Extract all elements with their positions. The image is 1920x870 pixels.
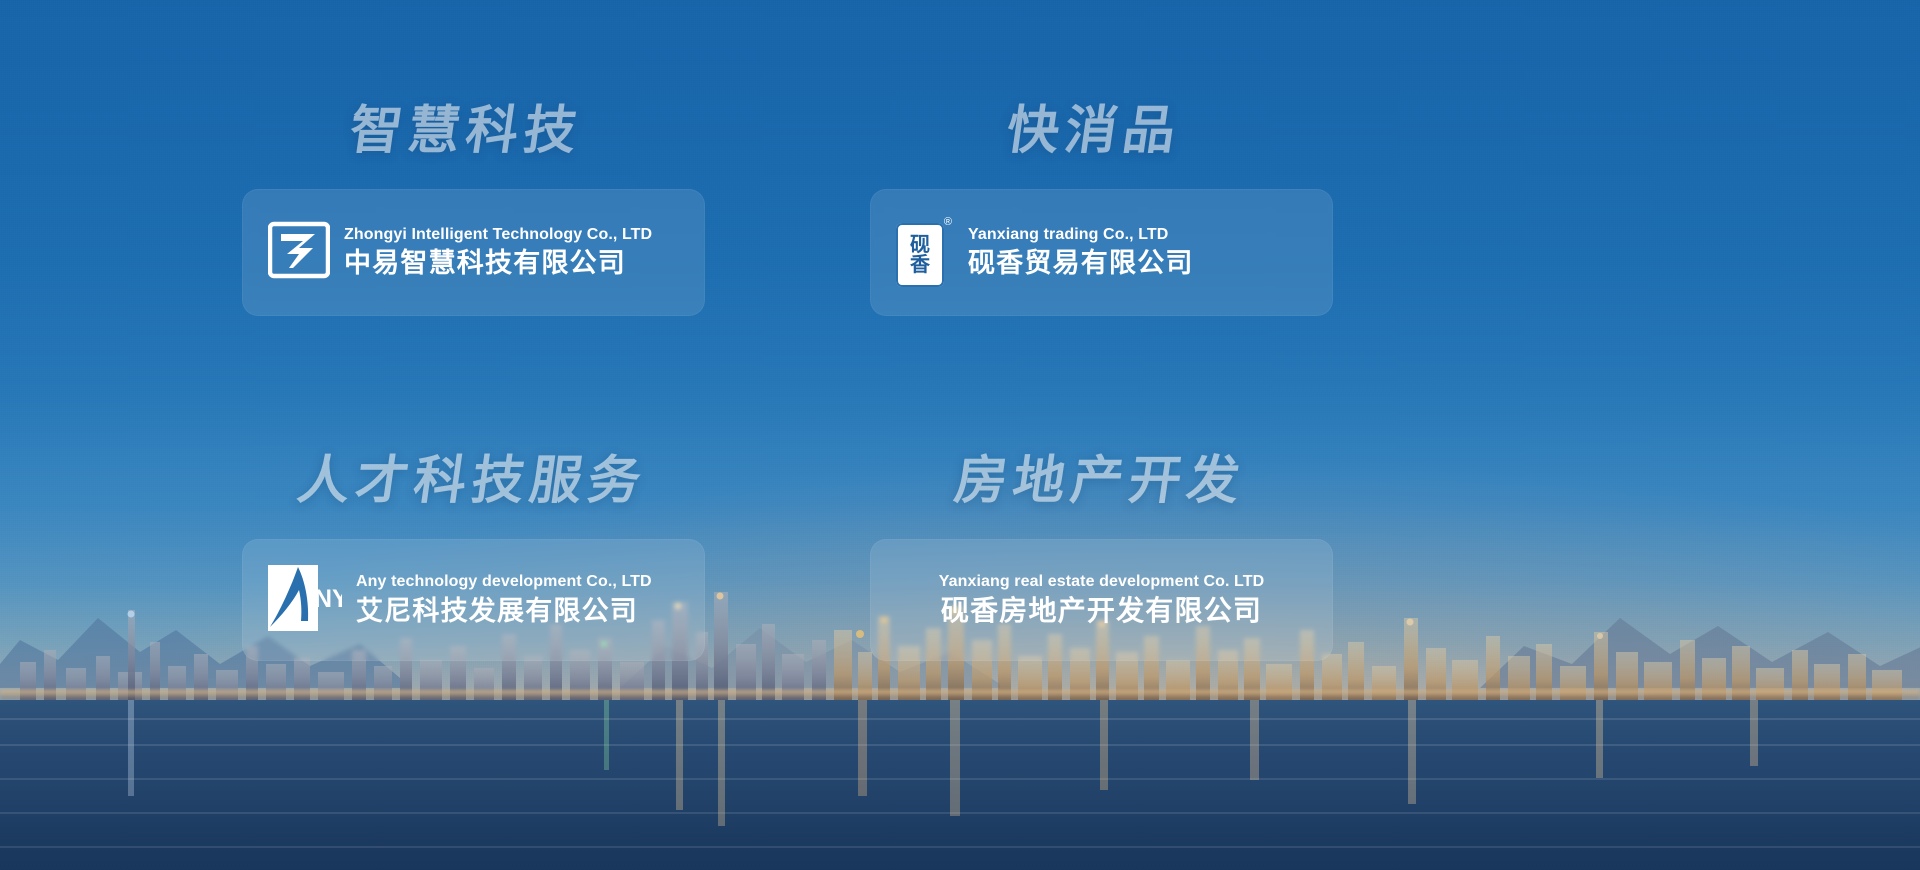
company-name-en: Yanxiang real estate development Co. LTD (939, 573, 1265, 591)
zhongyi-z-logo-icon (268, 218, 330, 287)
sector-talent-service: 人才科技服务 NY Any technology development Co.… (0, 435, 960, 870)
company-card-zhongyi[interactable]: Zhongyi Intelligent Technology Co., LTD … (242, 189, 705, 316)
sector-smart-technology: 智慧科技 Zhongyi Intelligent Technology Co.,… (0, 0, 960, 435)
company-name-yanxiang-real-estate: Yanxiang real estate development Co. LTD… (939, 573, 1265, 628)
company-card-yanxiang-real-estate[interactable]: Yanxiang real estate development Co. LTD… (870, 539, 1333, 661)
company-name-cn: 砚香房地产开发有限公司 (939, 594, 1265, 628)
company-name-cn: 砚香贸易有限公司 (968, 247, 1194, 279)
company-card-yanxiang-trading[interactable]: 砚 香 ® Yanxiang trading Co., LTD 砚香贸易有限公司 (870, 189, 1333, 316)
hero-banner: 智慧科技 Zhongyi Intelligent Technology Co.,… (0, 0, 1920, 870)
sector-fmcg: 快消品 砚 香 ® Yanxiang trading Co., LTD (960, 0, 1920, 435)
sectors-grid: 智慧科技 Zhongyi Intelligent Technology Co.,… (0, 0, 1920, 870)
any-mountain-logo-icon: NY (268, 565, 342, 636)
company-name-cn: 艾尼科技发展有限公司 (356, 595, 652, 627)
company-name-en: Zhongyi Intelligent Technology Co., LTD (344, 226, 652, 244)
company-name-any: Any technology development Co., LTD 艾尼科技… (356, 573, 652, 627)
any-logo-letters: NY (314, 585, 342, 613)
sector-real-estate: 房地产开发 Yanxiang real estate development C… (960, 435, 1920, 870)
sector-title-real-estate: 房地产开发 (865, 435, 1338, 507)
company-card-any[interactable]: NY Any technology development Co., LTD 艾… (242, 539, 705, 661)
sector-title-talent-service: 人才科技服务 (237, 435, 710, 507)
yanxiang-seal-logo-icon: 砚 香 ® (896, 217, 954, 289)
company-name-zhongyi: Zhongyi Intelligent Technology Co., LTD … (344, 226, 652, 280)
sector-title-fmcg: 快消品 (859, 0, 1344, 157)
seal-char-bottom: 香 (910, 255, 930, 275)
company-name-en: Yanxiang trading Co., LTD (968, 226, 1194, 244)
registered-mark-icon: ® (944, 217, 952, 228)
company-name-en: Any technology development Co., LTD (356, 573, 652, 591)
company-name-cn: 中易智慧科技有限公司 (344, 247, 652, 279)
sector-title-smart-technology: 智慧科技 (231, 0, 716, 157)
company-name-yanxiang-trading: Yanxiang trading Co., LTD 砚香贸易有限公司 (968, 226, 1194, 280)
